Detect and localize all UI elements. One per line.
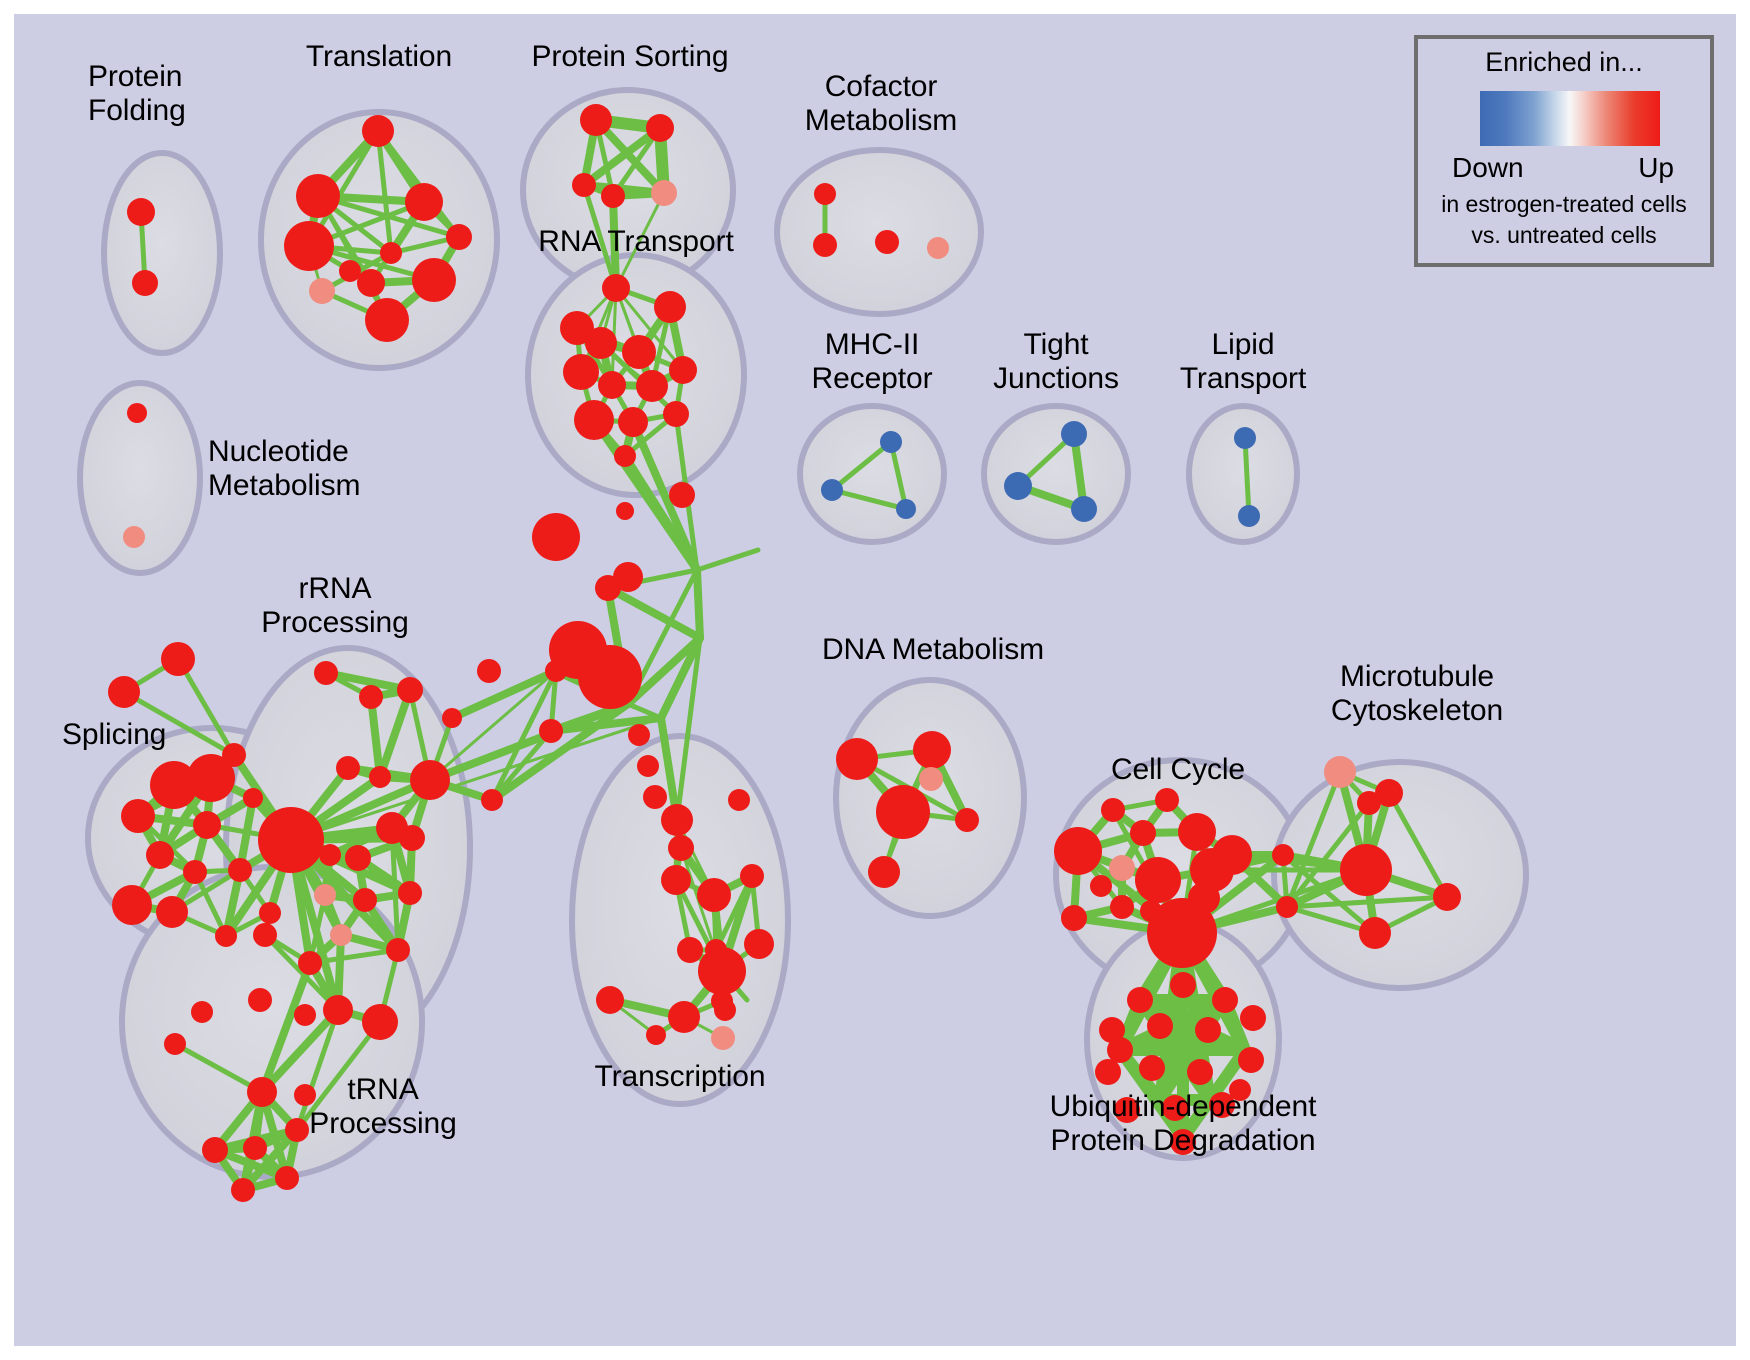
node-rrna bbox=[319, 844, 341, 866]
node-splicing bbox=[146, 841, 174, 869]
node-cell-cycle bbox=[1061, 905, 1087, 931]
node-microtubule bbox=[1359, 917, 1391, 949]
node-rrna bbox=[294, 1004, 316, 1026]
node-transcription bbox=[668, 835, 694, 861]
node-protein-sorting bbox=[580, 104, 612, 136]
node-cell-cycle bbox=[1155, 788, 1179, 812]
node-translation bbox=[380, 242, 402, 264]
node-rrna bbox=[397, 677, 423, 703]
node-rna-transport bbox=[663, 401, 689, 427]
node-protein-sorting bbox=[646, 114, 674, 142]
node-mhc bbox=[880, 431, 902, 453]
node-central bbox=[545, 660, 567, 682]
legend-up-label: Up bbox=[1638, 152, 1674, 184]
enrichment-map-figure: .hull { fill: url(#cg); stroke: #aaaac6;… bbox=[0, 0, 1750, 1360]
node-cell-cycle bbox=[1135, 857, 1181, 903]
label-line: Processing bbox=[261, 606, 408, 639]
node-transcription bbox=[711, 990, 733, 1012]
node-rna-transport bbox=[636, 370, 668, 402]
label-line: Protein bbox=[88, 60, 182, 93]
label-line: Microtubule bbox=[1340, 660, 1494, 693]
node-cell-cycle bbox=[1101, 798, 1125, 822]
node-cell-cycle bbox=[1130, 820, 1156, 846]
node-rna-transport bbox=[669, 356, 697, 384]
hull-cofactor bbox=[777, 150, 981, 314]
label-line: Processing bbox=[309, 1107, 456, 1140]
node-translation bbox=[339, 260, 361, 282]
label-line: Metabolism bbox=[208, 469, 360, 502]
node-ubiquitin bbox=[1107, 1037, 1133, 1063]
label-lipid-transport: LipidTransport bbox=[1133, 328, 1353, 395]
node-transcription bbox=[596, 986, 624, 1014]
node-central bbox=[595, 575, 621, 601]
node-translation bbox=[284, 221, 334, 271]
node-rrna bbox=[330, 924, 352, 946]
node-central bbox=[532, 513, 580, 561]
node-rna-transport bbox=[622, 335, 656, 369]
node-microtubule bbox=[1276, 896, 1298, 918]
label-line: Ubiquitin-dependent bbox=[1050, 1090, 1317, 1123]
node-dna-metabolism bbox=[955, 808, 979, 832]
label-line: Junctions bbox=[993, 362, 1119, 395]
node-central bbox=[669, 482, 695, 508]
node-cell-cycle bbox=[1140, 900, 1162, 922]
node-rrna bbox=[298, 951, 322, 975]
node-dna-metabolism bbox=[913, 731, 951, 769]
node-splicing bbox=[228, 858, 252, 882]
label-line: Receptor bbox=[812, 362, 933, 395]
node-ubiquitin bbox=[1147, 1013, 1173, 1039]
node-transcription bbox=[740, 864, 764, 888]
node-central bbox=[539, 719, 563, 743]
node-rrna bbox=[410, 760, 450, 800]
label-protein-folding: ProteinFolding bbox=[88, 60, 186, 127]
node-rrna bbox=[248, 988, 272, 1012]
node-translation bbox=[309, 278, 335, 304]
hull-protein-folding bbox=[104, 153, 220, 353]
node-rrna bbox=[362, 1004, 398, 1040]
node-rrna bbox=[323, 995, 353, 1025]
label-line: Metabolism bbox=[805, 104, 957, 137]
node-microtubule bbox=[1340, 844, 1392, 896]
node-translation bbox=[446, 224, 472, 250]
node-rna-transport bbox=[602, 274, 630, 302]
label-line: Cytoskeleton bbox=[1331, 694, 1503, 727]
node-translation bbox=[365, 298, 409, 342]
label-dna-metabolism: DNA Metabolism bbox=[798, 633, 1068, 667]
node-splicing bbox=[161, 642, 195, 676]
node-lipid bbox=[1238, 505, 1260, 527]
label-line: rRNA bbox=[299, 572, 372, 605]
node-transcription bbox=[661, 865, 691, 895]
node-microtubule bbox=[1357, 791, 1381, 815]
label-line: Protein Degradation bbox=[1051, 1124, 1316, 1157]
node-tight-junctions bbox=[1071, 496, 1097, 522]
label-line: Tight bbox=[1023, 328, 1088, 361]
node-trna bbox=[164, 1033, 186, 1055]
node-cell-cycle bbox=[1110, 895, 1134, 919]
node-splicing bbox=[243, 788, 263, 808]
node-rrna bbox=[369, 766, 391, 788]
node-trna bbox=[231, 1178, 255, 1202]
label-trna-processing: tRNAProcessing bbox=[288, 1073, 478, 1140]
node-ubiquitin bbox=[1139, 1055, 1165, 1081]
node-trna bbox=[275, 1166, 299, 1190]
node-translation bbox=[412, 258, 456, 302]
node-cofactor bbox=[814, 183, 836, 205]
label-line: Nucleotide bbox=[208, 435, 349, 468]
label-ubiquitin-degradation: Ubiquitin-dependentProtein Degradation bbox=[988, 1090, 1378, 1157]
node-splicing bbox=[193, 811, 221, 839]
node-central bbox=[442, 708, 462, 728]
label-line: Folding bbox=[88, 94, 186, 127]
node-central bbox=[616, 502, 634, 520]
node-ubiquitin bbox=[1212, 987, 1238, 1013]
hull-mhc-ii bbox=[800, 406, 944, 542]
node-cell-cycle bbox=[1090, 875, 1112, 897]
node-protein-sorting bbox=[572, 173, 596, 197]
node-ubiquitin bbox=[1195, 1017, 1221, 1043]
node-transcription bbox=[661, 804, 693, 836]
node-central bbox=[637, 755, 659, 777]
node-cell-cycle bbox=[1109, 855, 1135, 881]
node-cell-cycle bbox=[1188, 882, 1220, 914]
label-line: Cofactor bbox=[825, 70, 938, 103]
node-rna-transport bbox=[618, 407, 648, 437]
node-trna bbox=[243, 1136, 267, 1160]
node-translation bbox=[405, 183, 443, 221]
node-transcription bbox=[668, 1001, 700, 1033]
node-rna-transport bbox=[614, 445, 636, 467]
node-rrna bbox=[353, 888, 377, 912]
node-dna-metabolism bbox=[876, 785, 930, 839]
node-ubiquitin bbox=[1238, 1047, 1264, 1073]
legend-subtitle-line1: in estrogen-treated cells bbox=[1418, 191, 1710, 218]
node-transcription bbox=[697, 878, 731, 912]
label-protein-sorting: Protein Sorting bbox=[490, 40, 770, 74]
node-protein-folding bbox=[127, 198, 155, 226]
node-ubiquitin bbox=[1127, 987, 1153, 1013]
node-cofactor bbox=[927, 237, 949, 259]
legend-panel: Enriched in... Down Up in estrogen-treat… bbox=[1414, 35, 1714, 267]
label-translation: Translation bbox=[244, 40, 514, 74]
node-splicing bbox=[191, 1001, 213, 1023]
node-central bbox=[628, 724, 650, 746]
node-lipid bbox=[1234, 427, 1256, 449]
node-transcription bbox=[698, 947, 746, 995]
color-scale-bar bbox=[1480, 91, 1660, 146]
node-mhc bbox=[821, 479, 843, 501]
node-transcription bbox=[646, 1025, 666, 1045]
label-line: Lipid bbox=[1212, 328, 1275, 361]
node-dna-metabolism bbox=[868, 856, 900, 888]
label-cofactor-metabolism: CofactorMetabolism bbox=[756, 70, 1006, 137]
node-rrna bbox=[314, 884, 336, 906]
node-ubiquitin bbox=[1170, 972, 1196, 998]
label-transcription: Transcription bbox=[570, 1060, 790, 1094]
node-translation bbox=[357, 269, 385, 297]
node-trna bbox=[202, 1137, 228, 1163]
node-protein-sorting bbox=[601, 184, 625, 208]
label-line: tRNA bbox=[347, 1073, 418, 1106]
legend-down-label: Down bbox=[1452, 152, 1524, 184]
node-rna-transport bbox=[574, 400, 614, 440]
node-rrna bbox=[386, 938, 410, 962]
node-transcription bbox=[677, 937, 703, 963]
node-splicing bbox=[108, 676, 140, 708]
label-line: Transport bbox=[1180, 362, 1306, 395]
node-microtubule bbox=[1433, 883, 1461, 911]
node-ubiquitin bbox=[1187, 1059, 1213, 1085]
node-rrna bbox=[314, 661, 338, 685]
node-rrna bbox=[359, 685, 383, 709]
node-rna-transport bbox=[563, 354, 599, 390]
hull-tight-junctions bbox=[984, 406, 1128, 542]
node-splicing bbox=[187, 754, 235, 802]
node-rrna bbox=[258, 807, 324, 873]
node-rrna bbox=[345, 845, 371, 871]
node-transcription bbox=[711, 1026, 735, 1050]
legend-subtitle-line2: vs. untreated cells bbox=[1418, 222, 1710, 249]
node-cell-cycle bbox=[1054, 827, 1102, 875]
node-transcription bbox=[728, 789, 750, 811]
node-cell-cycle bbox=[1178, 813, 1216, 851]
node-microtubule bbox=[1272, 844, 1294, 866]
label-rrna-processing: rRNAProcessing bbox=[240, 572, 430, 639]
label-line: MHC-II bbox=[825, 328, 919, 361]
node-rna-transport bbox=[598, 371, 626, 399]
node-central bbox=[481, 789, 503, 811]
node-nucleotide bbox=[123, 526, 145, 548]
node-rna-transport bbox=[654, 291, 686, 323]
node-translation bbox=[362, 115, 394, 147]
node-rrna bbox=[253, 923, 277, 947]
node-splicing bbox=[183, 860, 207, 884]
node-splicing bbox=[121, 799, 155, 833]
label-microtubule-cytoskeleton: MicrotubuleCytoskeleton bbox=[1292, 660, 1542, 727]
label-nucleotide-metabolism: NucleotideMetabolism bbox=[208, 435, 360, 502]
node-tight-junctions bbox=[1061, 421, 1087, 447]
node-rna-transport bbox=[585, 327, 617, 359]
node-trna bbox=[247, 1077, 277, 1107]
node-protein-folding bbox=[132, 270, 158, 296]
label-cell-cycle: Cell Cycle bbox=[1088, 753, 1268, 787]
legend-title: Enriched in... bbox=[1418, 47, 1710, 78]
node-splicing bbox=[156, 896, 188, 928]
node-transcription bbox=[744, 929, 774, 959]
node-rrna bbox=[336, 756, 360, 780]
node-dna-metabolism bbox=[836, 738, 878, 780]
node-tight-junctions bbox=[1004, 472, 1032, 500]
node-cofactor bbox=[813, 233, 837, 257]
node-ubiquitin bbox=[1095, 1059, 1121, 1085]
node-splicing bbox=[112, 885, 152, 925]
node-dna-metabolism bbox=[919, 767, 943, 791]
label-splicing: Splicing bbox=[62, 718, 166, 752]
node-microtubule bbox=[1324, 756, 1356, 788]
node-translation bbox=[296, 174, 340, 218]
node-central bbox=[643, 785, 667, 809]
node-splicing bbox=[215, 925, 237, 947]
node-rrna bbox=[399, 825, 425, 851]
node-splicing bbox=[259, 902, 281, 924]
node-ubiquitin bbox=[1240, 1005, 1266, 1031]
node-protein-sorting bbox=[651, 180, 677, 206]
node-rrna bbox=[398, 881, 422, 905]
node-nucleotide bbox=[127, 403, 147, 423]
node-cofactor bbox=[875, 230, 899, 254]
node-mhc bbox=[896, 499, 916, 519]
label-rna-transport: RNA Transport bbox=[506, 225, 766, 259]
node-central bbox=[477, 659, 501, 683]
node-central bbox=[578, 645, 642, 709]
